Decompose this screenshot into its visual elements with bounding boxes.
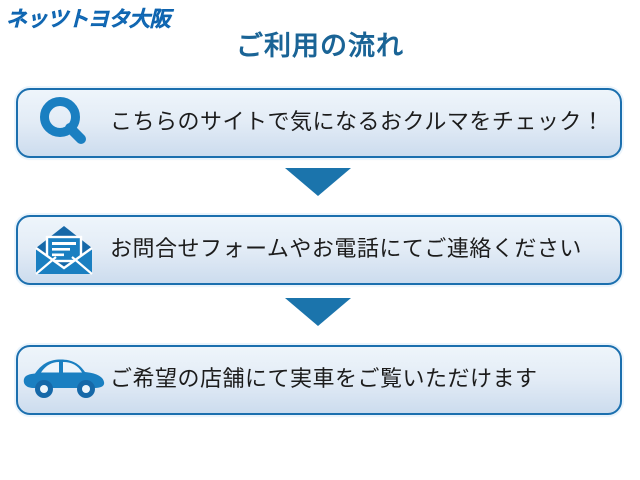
flow-step-2: お問合せフォームやお電話にてご連絡ください [16,215,622,285]
magnifier-icon [18,90,110,156]
arrow-down-icon-1 [285,168,351,196]
brand-logo-text: ネッツトヨタ大阪 [6,9,170,30]
flow-diagram-canvas: ネッツトヨタ大阪 ご利用の流れ こちらのサイトで気になるおクルマをチェック！ [0,0,640,480]
arrow-down-icon-2 [285,298,351,326]
page-title: ご利用の流れ [0,30,640,64]
car-icon [18,347,110,413]
flow-step-1-label: こちらのサイトで気になるおクルマをチェック！ [110,108,620,138]
flow-step-3-label: ご希望の店舗にて実車をご覧いただけます [110,365,620,395]
flow-step-1: こちらのサイトで気になるおクルマをチェック！ [16,88,622,158]
flow-step-2-label: お問合せフォームやお電話にてご連絡ください [110,235,620,265]
mail-envelope-icon [18,217,110,283]
flow-step-3: ご希望の店舗にて実車をご覧いただけます [16,345,622,415]
